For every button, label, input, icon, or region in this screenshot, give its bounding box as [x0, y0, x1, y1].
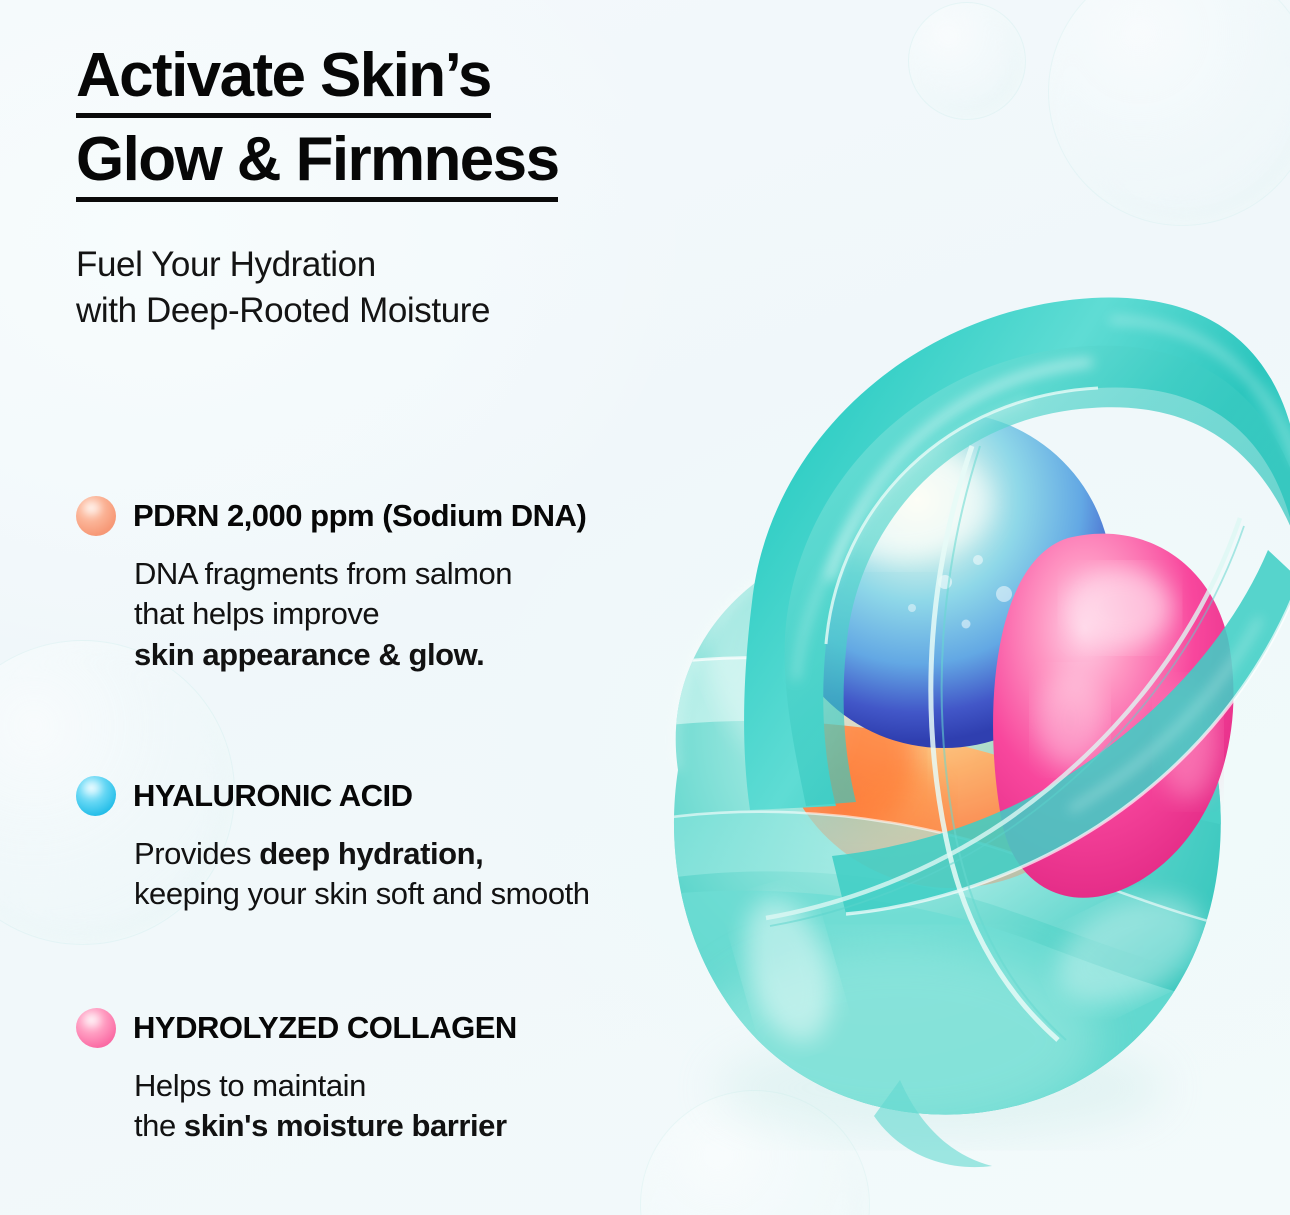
ingredient-desc-plain: the	[134, 1108, 184, 1143]
ingredient-desc-line-2: the skin's moisture barrier	[134, 1106, 517, 1146]
ingredient-heading: HYDROLYZED COLLAGEN	[76, 1008, 517, 1048]
subheadline-line-2: with Deep-Rooted Moisture	[76, 288, 490, 334]
ingredient-title: PDRN 2,000 ppm (Sodium DNA)	[133, 498, 586, 534]
ingredient-desc-line-1: Helps to maintain	[134, 1066, 517, 1106]
ingredient-description: Provides deep hydration, keeping your sk…	[134, 834, 590, 915]
ingredient-title: HYDROLYZED COLLAGEN	[133, 1010, 517, 1046]
ingredient-desc-line-1: Provides deep hydration,	[134, 834, 590, 874]
ingredient-item-pdrn: PDRN 2,000 ppm (Sodium DNA) DNA fragment…	[76, 496, 586, 675]
ingredient-description: Helps to maintain the skin's moisture ba…	[134, 1066, 517, 1147]
ingredient-desc-line-2: that helps improve	[134, 594, 586, 634]
headline-line-1: Activate Skin’s	[76, 44, 491, 118]
ingredient-heading: PDRN 2,000 ppm (Sodium DNA)	[76, 496, 586, 536]
ingredient-item-hyaluronic-acid: HYALURONIC ACID Provides deep hydration,…	[76, 776, 590, 915]
collagen-sphere-icon	[76, 1008, 116, 1048]
ingredient-desc-line-1: DNA fragments from salmon	[134, 554, 586, 594]
headline-line-2: Glow & Firmness	[76, 128, 558, 202]
ingredient-desc-emphasis: skin's moisture barrier	[184, 1108, 507, 1143]
ingredient-description: DNA fragments from salmon that helps imp…	[134, 554, 586, 675]
ingredient-item-hydrolyzed-collagen: HYDROLYZED COLLAGEN Helps to maintain th…	[76, 1008, 517, 1147]
page-subheadline: Fuel Your Hydration with Deep-Rooted Moi…	[76, 242, 490, 333]
pdrn-sphere-icon	[76, 496, 116, 536]
subheadline-line-1: Fuel Your Hydration	[76, 242, 490, 288]
ingredient-title: HYALURONIC ACID	[133, 778, 413, 814]
ingredient-desc-emphasis: skin appearance & glow.	[134, 637, 484, 672]
hyaluronic-droplet-icon	[76, 776, 116, 816]
ingredient-desc-plain: Provides	[134, 836, 259, 871]
ingredient-desc-emphasis: deep hydration,	[259, 836, 483, 871]
ingredient-heading: HYALURONIC ACID	[76, 776, 590, 816]
page-headline: Activate Skin’s Glow & Firmness	[76, 44, 558, 202]
ingredient-desc-line-3: skin appearance & glow.	[134, 635, 586, 675]
ingredient-desc-line-2: keeping your skin soft and smooth	[134, 874, 590, 914]
